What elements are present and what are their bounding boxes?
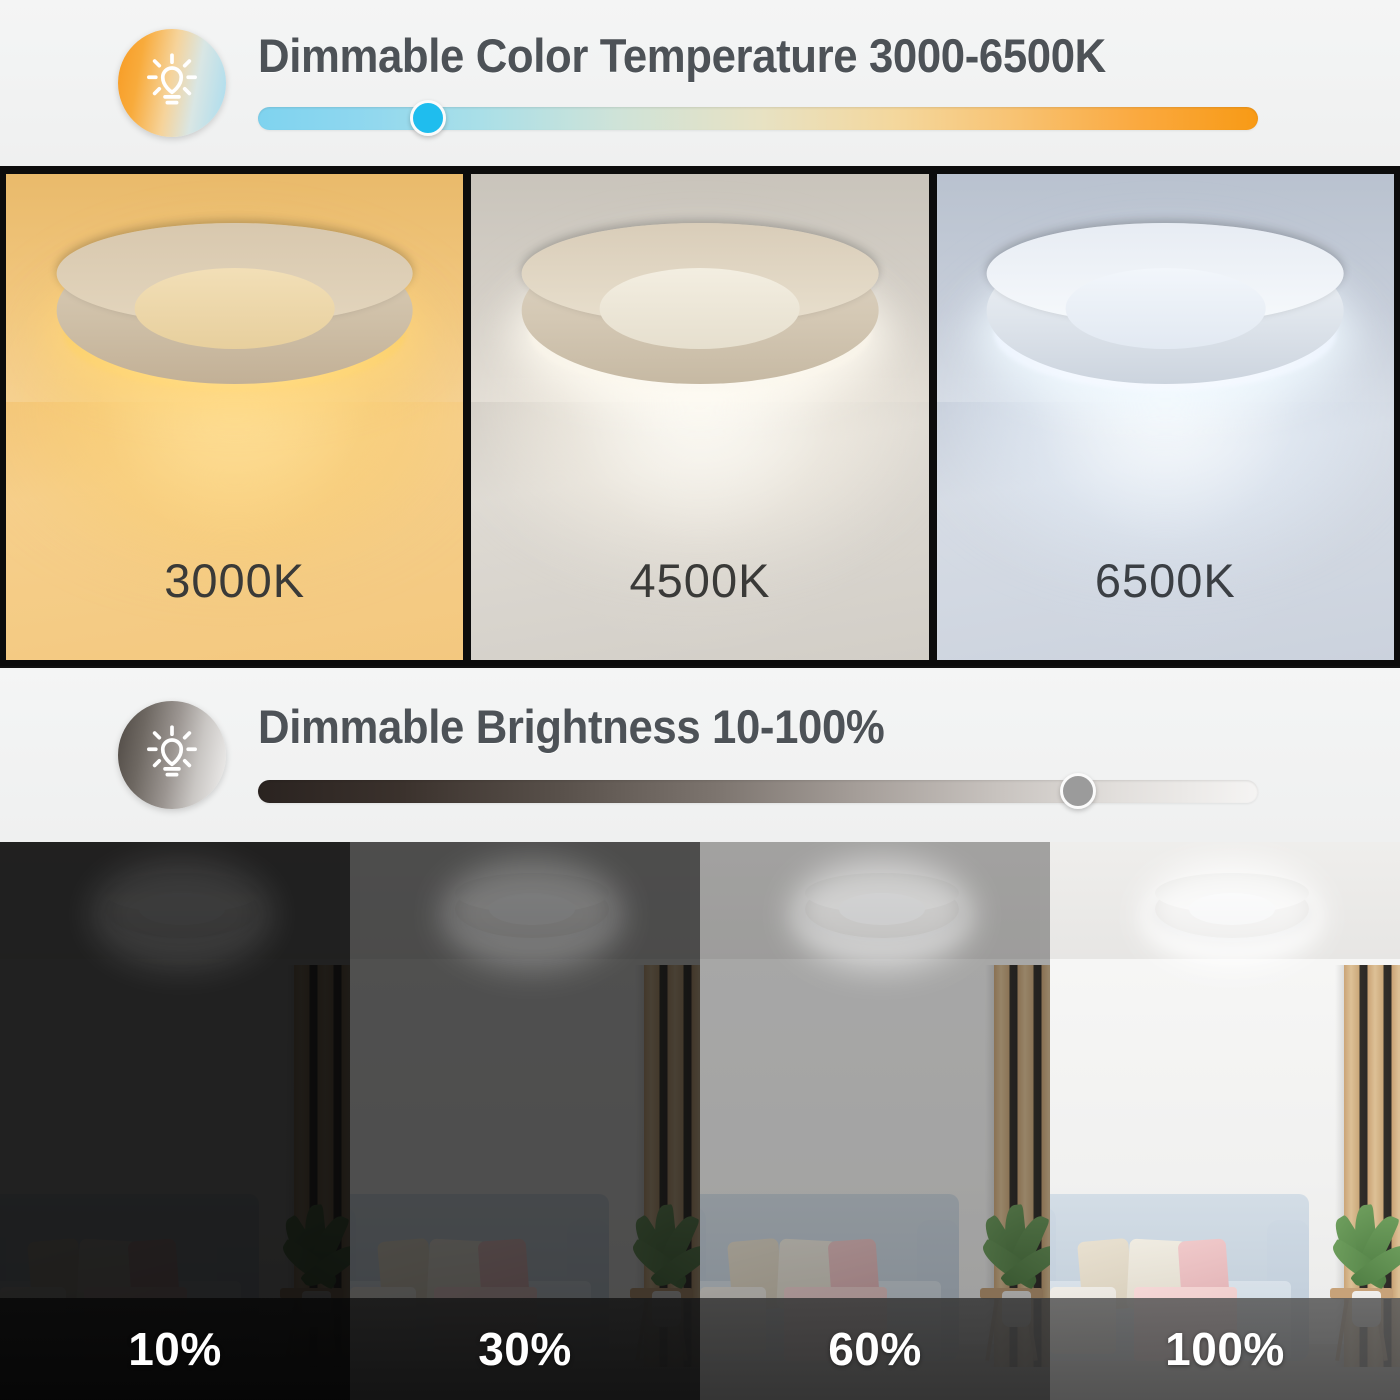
brightness-title: Dimmable Brightness 10-100% — [258, 703, 1199, 750]
floor-glow — [471, 378, 928, 660]
brightness-slider-thumb[interactable] — [1060, 773, 1096, 809]
color-temperature-panels: 3000K 4500K 6500K — [0, 166, 1400, 668]
lamp-core — [1065, 268, 1265, 348]
cct-title: Dimmable Color Temperature 3000-6500K — [258, 32, 1199, 79]
ceiling-lamp — [1155, 873, 1309, 946]
lamp-core — [1189, 893, 1275, 925]
lamp-core — [600, 268, 800, 348]
cct-panel-3000k: 3000K — [6, 174, 463, 660]
lamp-core — [139, 893, 225, 925]
floor-glow — [937, 378, 1394, 660]
brightness-header: Dimmable Brightness 10-100% — [0, 668, 1400, 842]
cct-panel-label: 3000K — [6, 553, 463, 608]
lamp-core — [489, 893, 575, 925]
cct-icon-wrap — [118, 29, 226, 137]
ceiling-lamp — [522, 223, 879, 398]
ceiling-lamp — [987, 223, 1344, 398]
cct-slider-track[interactable] — [258, 107, 1258, 130]
color-temperature-header: Dimmable Color Temperature 3000-6500K — [0, 0, 1400, 166]
brightness-label-bar: 30% — [350, 1298, 700, 1400]
lamp-core — [839, 893, 925, 925]
lightbulb-rays-icon — [118, 29, 226, 137]
ceiling-lamp — [56, 223, 413, 398]
brightness-label-bar: 100% — [1050, 1298, 1400, 1400]
brightness-slider[interactable] — [258, 774, 1258, 808]
brightness-panel-label: 60% — [828, 1322, 922, 1376]
lightbulb-rays-icon — [118, 701, 226, 809]
brightness-icon-wrap — [118, 701, 226, 809]
brightness-slider-track[interactable] — [258, 780, 1258, 803]
cct-panel-label: 4500K — [471, 553, 928, 608]
cct-panel-4500k: 4500K — [471, 174, 928, 660]
floor-glow — [6, 378, 463, 660]
color-temperature-slider[interactable] — [258, 101, 1258, 135]
brightness-panel-10: 10% — [0, 842, 350, 1400]
brightness-label-bar: 10% — [0, 1298, 350, 1400]
brightness-panels: 10% — [0, 842, 1400, 1400]
cct-header-body: Dimmable Color Temperature 3000-6500K — [258, 0, 1270, 166]
cct-panel-6500k: 6500K — [937, 174, 1394, 660]
brightness-panel-label: 30% — [478, 1322, 572, 1376]
lamp-core — [135, 268, 335, 348]
brightness-panel-30: 30% — [350, 842, 700, 1400]
ceiling-lamp — [455, 873, 609, 946]
brightness-panel-label: 100% — [1165, 1322, 1285, 1376]
ceiling-lamp — [805, 873, 959, 946]
product-infographic: Dimmable Color Temperature 3000-6500K 30… — [0, 0, 1400, 1400]
cct-slider-thumb[interactable] — [410, 100, 446, 136]
cct-panel-label: 6500K — [937, 553, 1394, 608]
brightness-header-body: Dimmable Brightness 10-100% — [258, 668, 1270, 842]
ceiling-lamp — [105, 873, 259, 946]
brightness-panel-60: 60% — [700, 842, 1050, 1400]
brightness-panel-100: 100% — [1050, 842, 1400, 1400]
brightness-label-bar: 60% — [700, 1298, 1050, 1400]
brightness-panel-label: 10% — [128, 1322, 222, 1376]
